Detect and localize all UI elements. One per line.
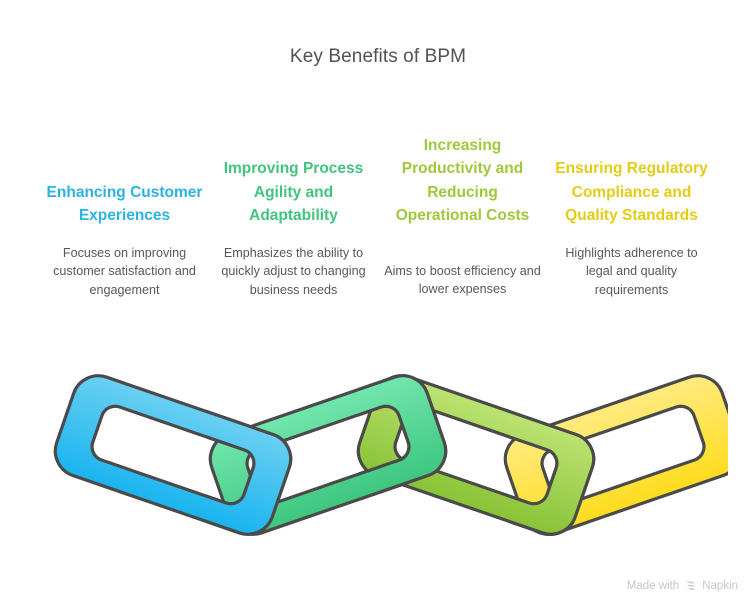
benefit-heading-1: Enhancing Customer Experiences <box>46 181 203 228</box>
benefit-body-1: Focuses on improving customer satisfacti… <box>46 244 203 299</box>
napkin-watermark: Made with Napkin <box>627 579 738 592</box>
watermark-made-with-label: Made with <box>627 580 679 592</box>
benefit-heading-2: Improving Process Agility and Adaptabili… <box>215 157 372 228</box>
benefit-column-2: Improving Process Agility and Adaptabili… <box>209 88 378 299</box>
benefit-heading-wrap-1: Enhancing Customer Experiences <box>46 88 203 228</box>
benefit-column-4: Ensuring Regulatory Compliance and Quali… <box>547 88 716 299</box>
benefit-body-2: Emphasizes the ability to quickly adjust… <box>215 244 372 299</box>
benefit-heading-wrap-3: Increasing Productivity and Reducing Ope… <box>384 88 541 228</box>
page-title: Key Benefits of BPM <box>0 46 756 68</box>
benefit-body-4: Highlights adherence to legal and qualit… <box>553 244 710 299</box>
benefit-body-3: Aims to boost efficiency and lower expen… <box>384 262 541 299</box>
interlocking-chain-links-graphic <box>28 330 728 565</box>
benefit-column-3: Increasing Productivity and Reducing Ope… <box>378 88 547 299</box>
watermark-brand-label: Napkin <box>702 580 738 592</box>
napkin-chevron-logo-icon <box>684 580 697 593</box>
benefit-columns: Enhancing Customer Experiences Focuses o… <box>40 88 716 308</box>
benefit-heading-3: Increasing Productivity and Reducing Ope… <box>384 134 541 228</box>
benefit-heading-wrap-4: Ensuring Regulatory Compliance and Quali… <box>553 88 710 228</box>
benefit-column-1: Enhancing Customer Experiences Focuses o… <box>40 88 209 299</box>
benefit-heading-wrap-2: Improving Process Agility and Adaptabili… <box>215 88 372 228</box>
benefit-heading-4: Ensuring Regulatory Compliance and Quali… <box>553 157 710 228</box>
